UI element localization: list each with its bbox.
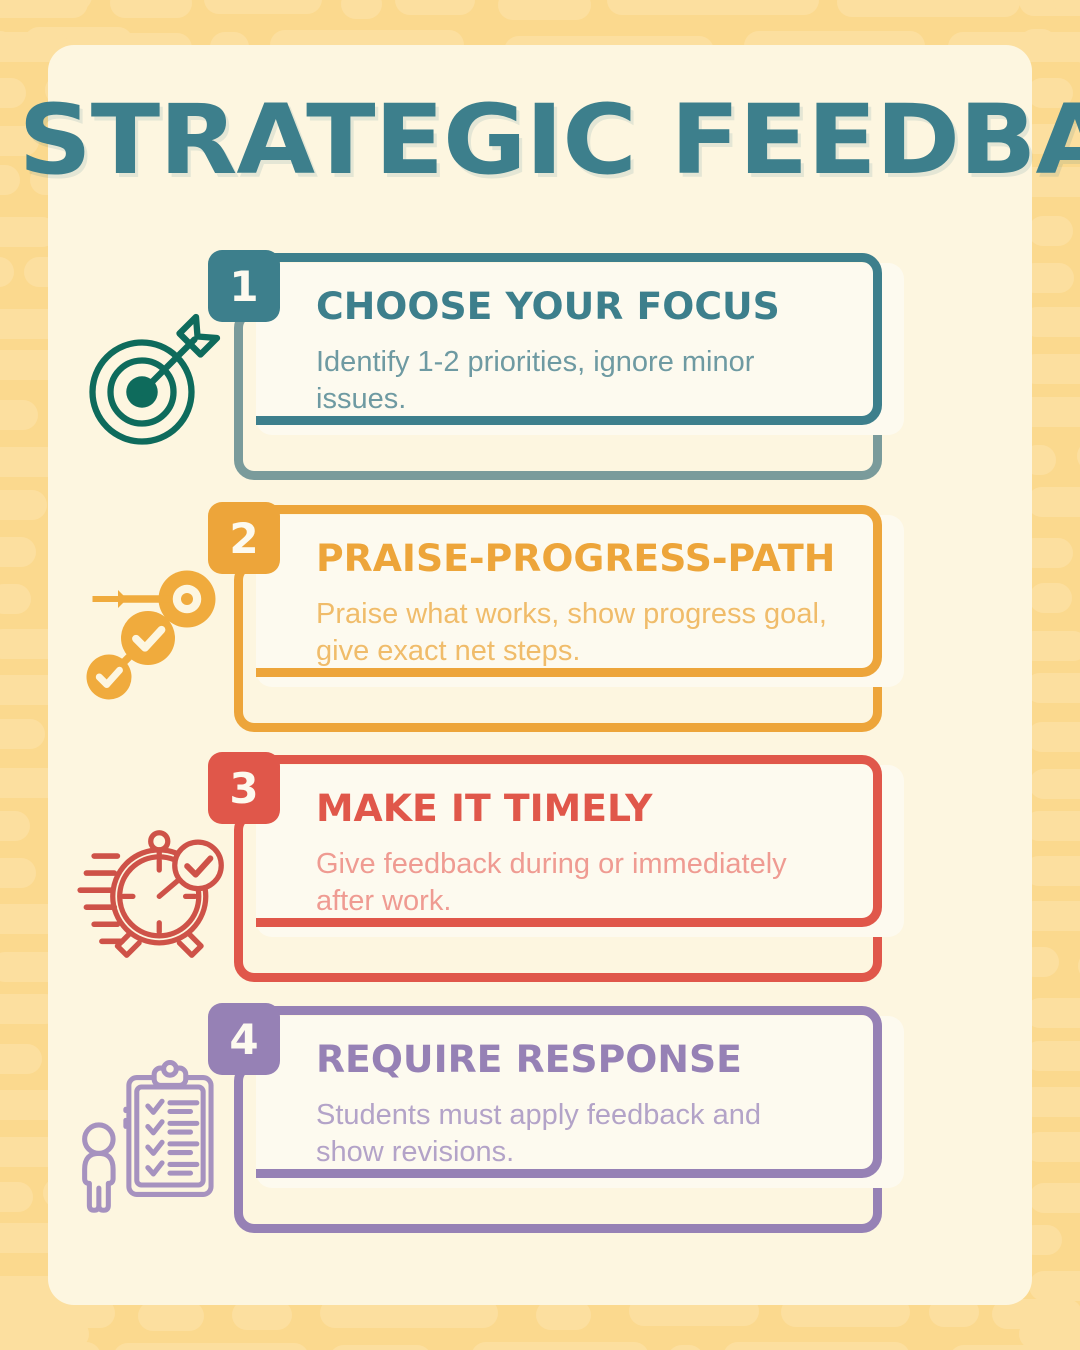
- step-title: MAKE IT TIMELY: [316, 790, 652, 827]
- step-number-badge: 2: [208, 502, 280, 574]
- person-clipboard-checklist-icon: [66, 1051, 236, 1221]
- pattern-pill: [0, 1182, 33, 1212]
- pattern-pill: [1024, 856, 1080, 886]
- progress-path-checks-icon: [66, 550, 236, 720]
- step-title: CHOOSE YOUR FOCUS: [316, 288, 780, 325]
- pattern-pill: [1027, 487, 1080, 517]
- pattern-pill: [0, 1044, 42, 1074]
- page-title: STRATEGIC FEEDBACK: [18, 92, 1061, 188]
- step-title: REQUIRE RESPONSE: [316, 1041, 742, 1078]
- step-card: 2 PRAISE-PROGRESS-PATH Praise what works…: [48, 502, 1032, 752]
- pattern-pill: [1029, 1183, 1080, 1213]
- pattern-pill: [329, 1345, 432, 1350]
- pattern-pill: [0, 490, 47, 520]
- pattern-pill: [949, 1345, 1080, 1350]
- target-arrow-icon: [66, 298, 236, 468]
- step-card: 4 REQUIRE RESPONSE Students must apply f…: [48, 1003, 1032, 1253]
- step-title: PRAISE-PROGRESS-PATH: [316, 540, 835, 577]
- pattern-pill: [0, 1342, 101, 1350]
- step-card: 3 MAKE IT TIMELY Give feedback during or…: [48, 752, 1032, 1002]
- step-number-badge: 1: [208, 250, 280, 322]
- pattern-pill: [113, 1343, 309, 1350]
- pattern-pill: [341, 0, 382, 19]
- pattern-pill: [723, 1342, 910, 1350]
- step-card: 1 CHOOSE YOUR FOCUS Identify 1-2 priorit…: [48, 250, 1032, 500]
- main-panel: STRATEGIC FEEDBACK 1 CHOOSE YOUR FOCUS I…: [48, 45, 1032, 1305]
- pattern-pill: [1024, 1041, 1080, 1071]
- pattern-pill: [1025, 673, 1080, 703]
- pattern-pill: [0, 811, 30, 841]
- pattern-pill: [607, 0, 819, 15]
- pattern-pill: [204, 0, 322, 14]
- pattern-pill: [0, 537, 36, 567]
- poster-root: STRATEGIC FEEDBACK 1 CHOOSE YOUR FOCUS I…: [0, 0, 1080, 1350]
- step-description: Praise what works, show progress goal, g…: [316, 596, 836, 670]
- pattern-pill: [1024, 811, 1080, 841]
- step-description: Give feedback during or immediately afte…: [316, 846, 836, 920]
- step-number-badge: 4: [208, 1003, 280, 1075]
- pattern-pill: [667, 1345, 705, 1350]
- pattern-pill: [837, 0, 1020, 17]
- pattern-pill: [1024, 1132, 1080, 1162]
- pattern-pill: [1029, 1271, 1080, 1301]
- pattern-pill: [0, 858, 36, 888]
- pattern-pill: [0, 400, 38, 430]
- pattern-pill: [498, 0, 591, 20]
- pattern-pill: [0, 0, 88, 18]
- stopwatch-check-icon: [66, 800, 236, 970]
- step-description: Identify 1-2 priorities, ignore minor is…: [316, 344, 836, 418]
- pattern-pill: [0, 165, 20, 195]
- step-description: Students must apply feedback and show re…: [316, 1097, 836, 1171]
- step-number-badge: 3: [208, 752, 280, 824]
- pattern-pill: [1029, 583, 1072, 613]
- pattern-pill: [1028, 216, 1073, 246]
- pattern-pill: [471, 1342, 648, 1350]
- pattern-pill: [0, 584, 31, 614]
- pattern-pill: [1029, 769, 1080, 799]
- pattern-pill: [0, 257, 14, 287]
- pattern-pill: [138, 1301, 204, 1331]
- pattern-pill: [1027, 722, 1080, 752]
- pattern-pill: [395, 0, 474, 15]
- pattern-pill: [110, 0, 191, 18]
- pattern-pill: [1025, 998, 1080, 1028]
- pattern-pill: [0, 719, 45, 749]
